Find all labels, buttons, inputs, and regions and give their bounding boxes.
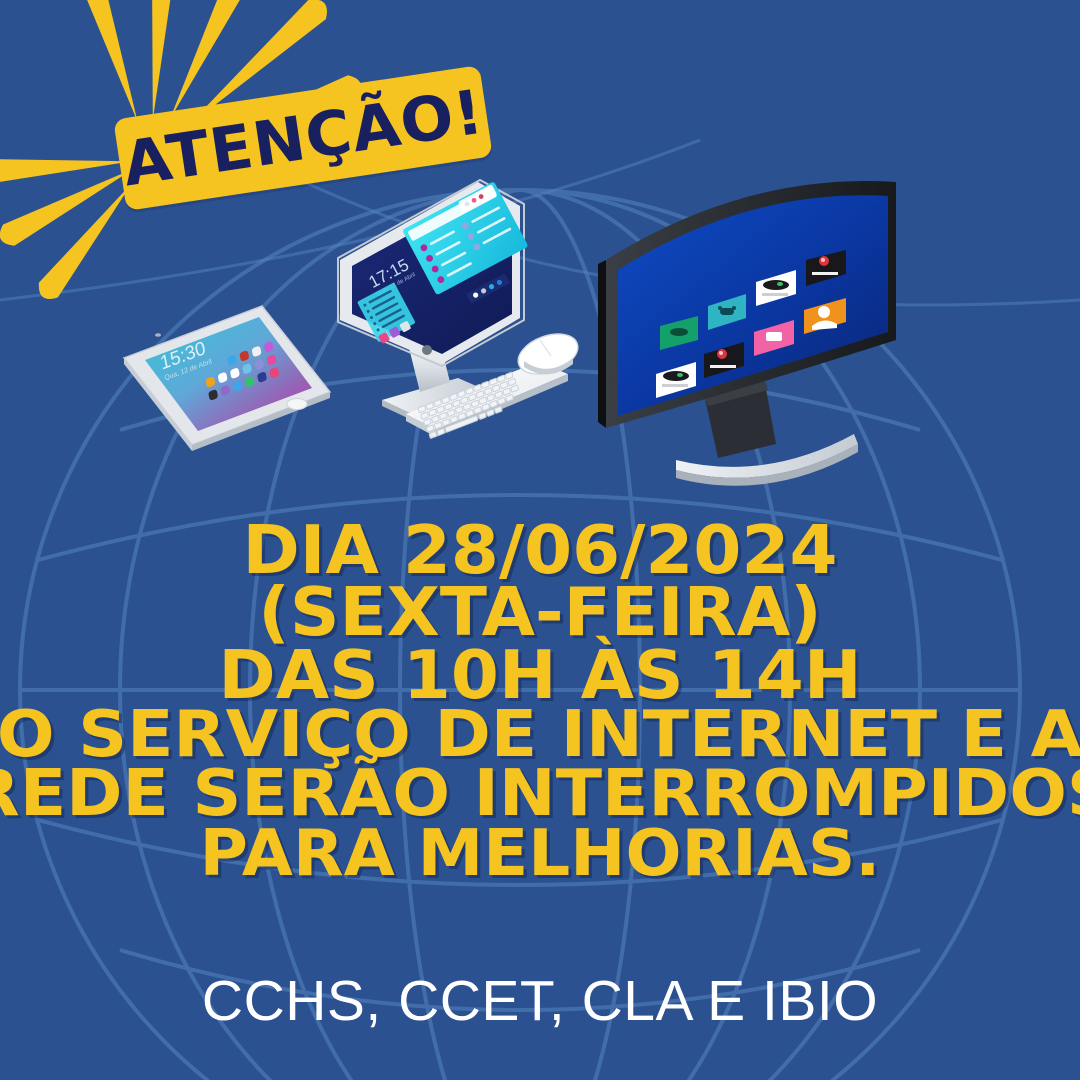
headline-block: DIA 28/06/2024 (SEXTA-FEIRA) DAS 10H ÀS … <box>0 519 1080 884</box>
device-tablet: 15:30 Qua, 12 de Abril <box>124 306 330 451</box>
headline-line-2: (SEXTA-FEIRA) <box>0 581 1080 643</box>
headline-line-3: DAS 10H ÀS 14H <box>0 644 1080 706</box>
footer-units-label: CCHS, CCET, CLA E IBIO <box>0 968 1080 1034</box>
headline-line-1: DIA 28/06/2024 <box>0 519 1080 581</box>
device-curved-tv <box>598 181 896 486</box>
headline-line-6: PARA MELHORIAS. <box>0 825 1080 885</box>
poster-canvas: ATENÇÃO! <box>0 0 1080 1080</box>
